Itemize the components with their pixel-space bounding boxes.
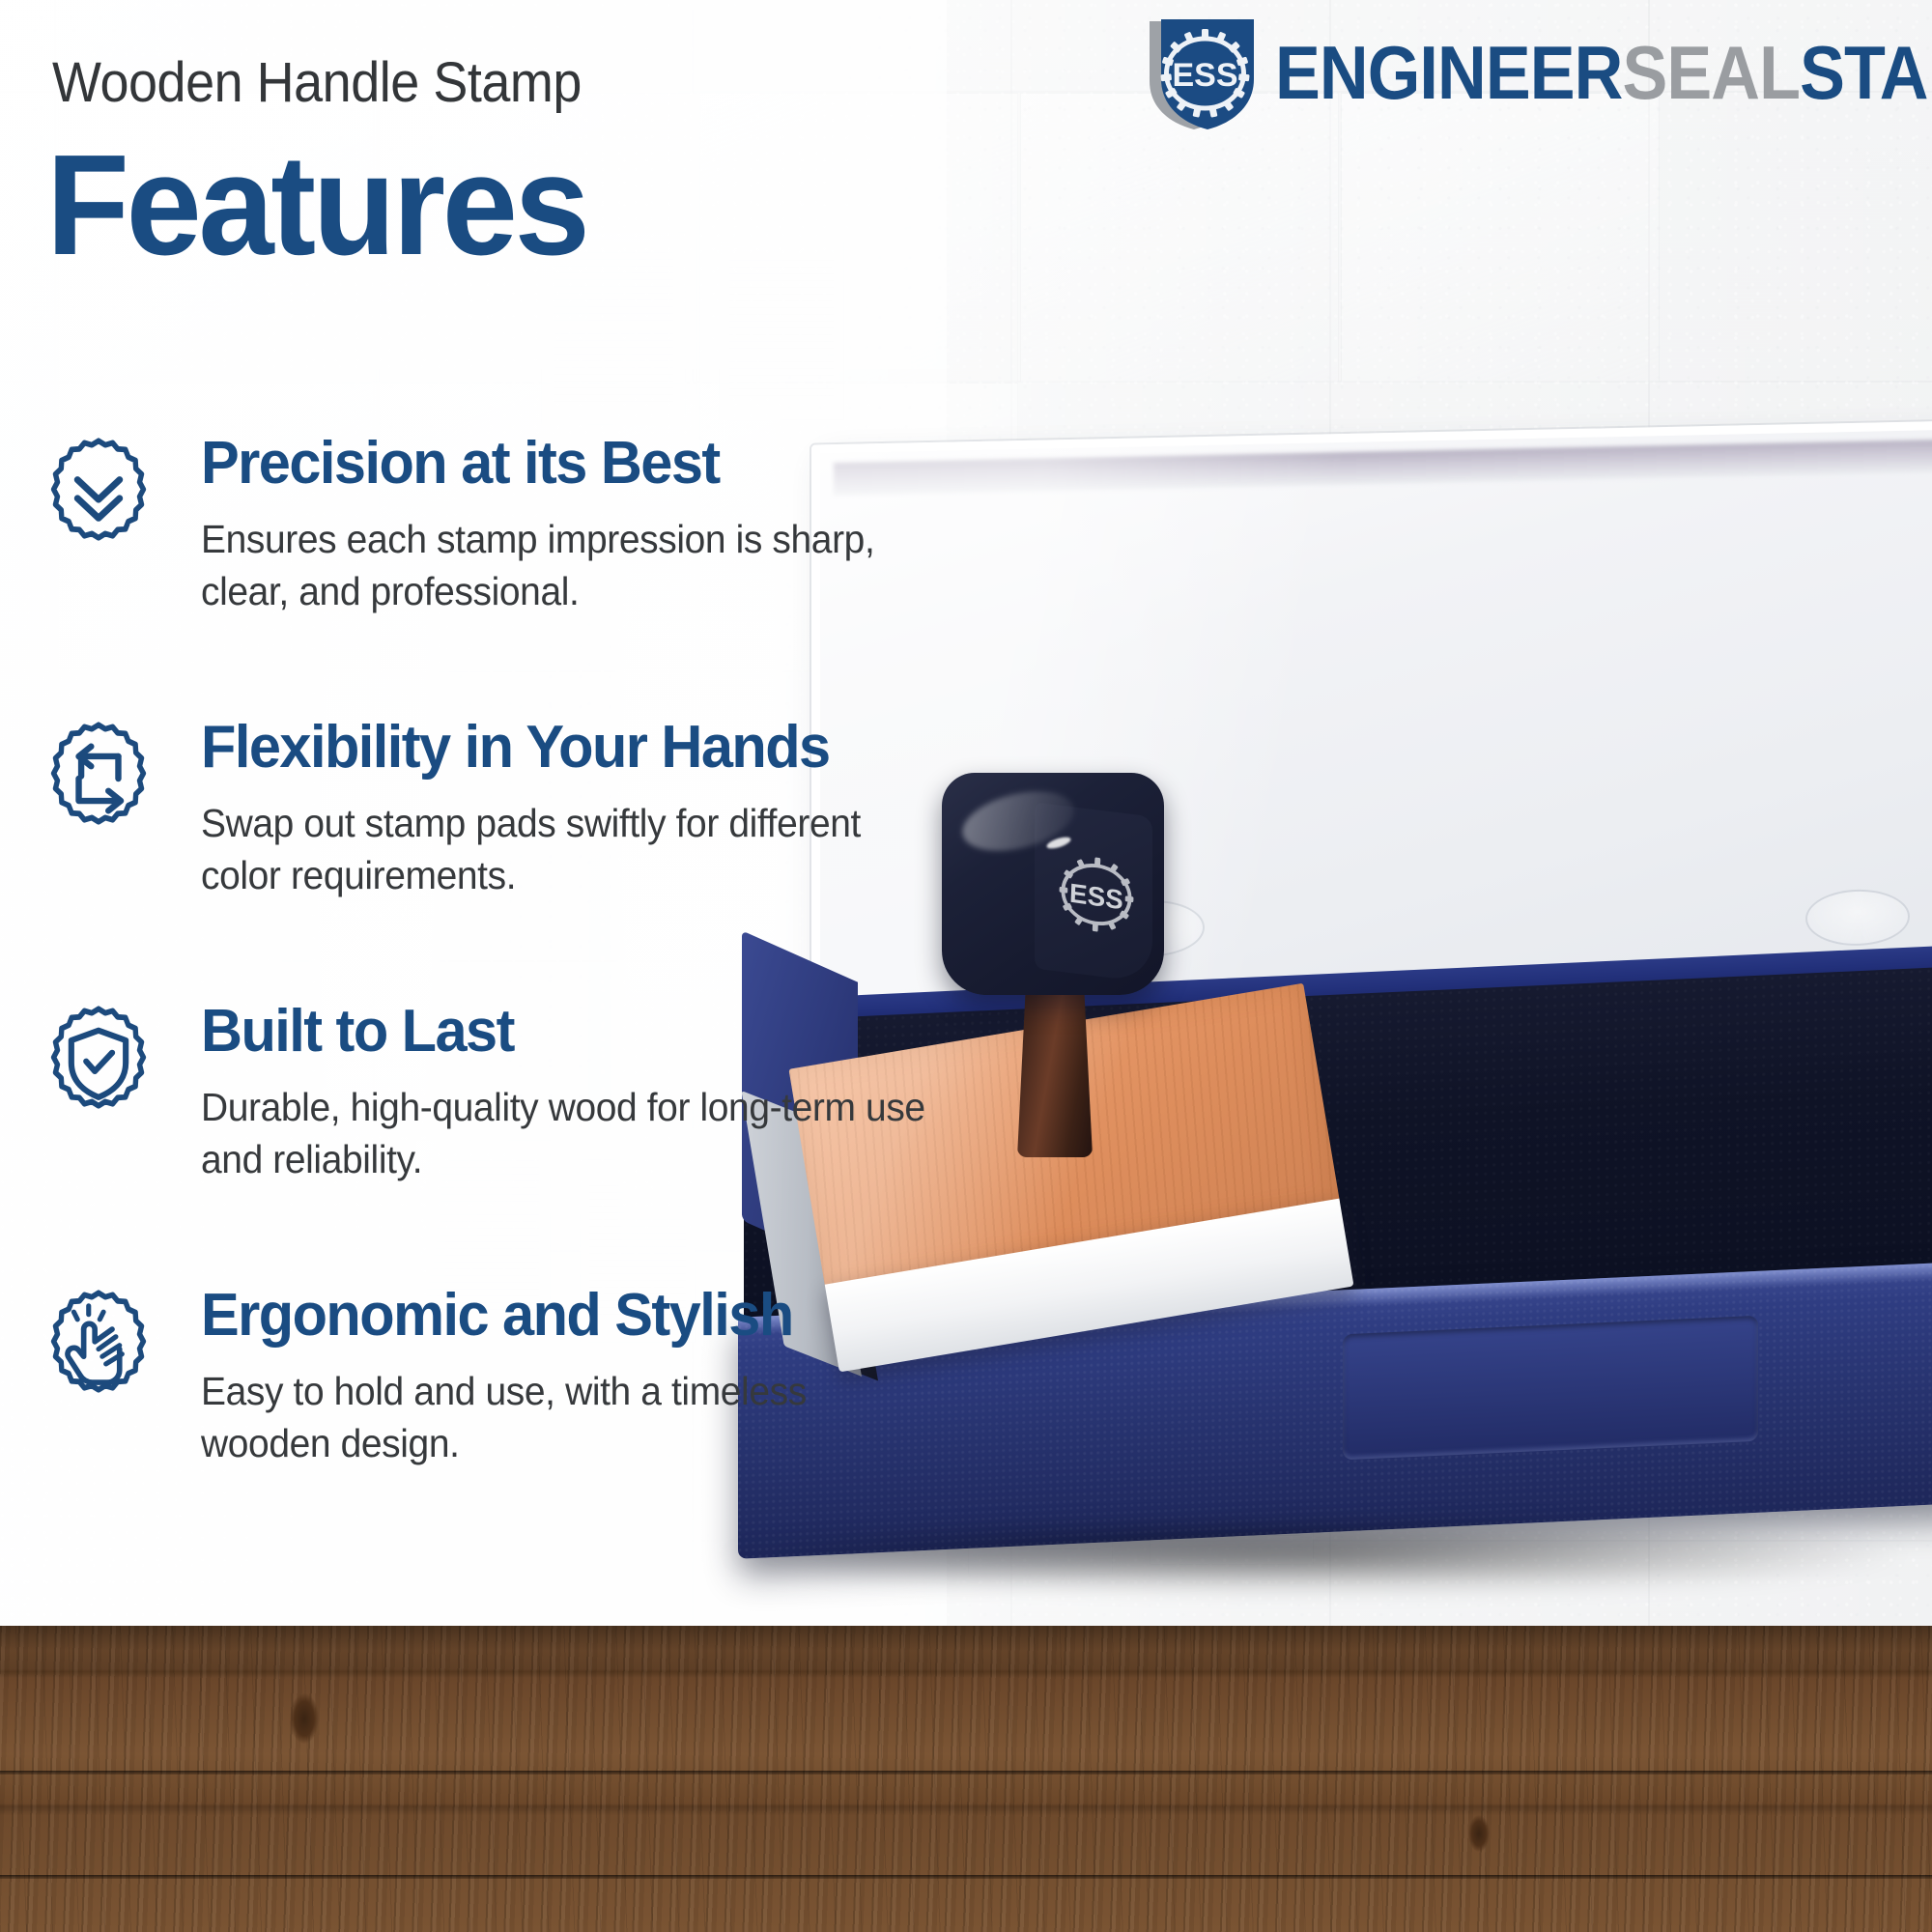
wordmark-stamps: STAMPS	[1800, 35, 1932, 110]
product-photo-wooden-handle-stamp: ESS	[908, 415, 1932, 1690]
feature-title: Flexibility in Your Hands	[201, 717, 973, 779]
feature-description: Durable, high-quality wood for long-term…	[201, 1082, 935, 1185]
wood-plank-seam	[0, 1771, 1932, 1775]
feature-title: Ergonomic and Stylish	[201, 1285, 973, 1347]
feature-item: Flexibility in Your Hands Swap out stamp…	[0, 717, 1005, 1007]
brand-wordmark: ENGINEER SEAL STAMPS .COM	[1275, 35, 1932, 110]
feature-title: Built to Last	[201, 1001, 973, 1063]
feature-item: Ergonomic and Stylish Easy to hold and u…	[0, 1285, 1005, 1575]
features-list: Precision at its Best Ensures each stamp…	[0, 439, 1005, 1575]
feature-description: Swap out stamp pads swiftly for differen…	[201, 798, 935, 901]
shield-logo-text: ESS	[1172, 57, 1237, 94]
ess-shield-icon: ESS	[1148, 15, 1262, 129]
page-title: Features	[46, 135, 586, 275]
wood-knot	[1468, 1815, 1490, 1852]
tap-hand-badge-icon	[37, 1285, 160, 1408]
wordmark-seal: SEAL	[1622, 35, 1800, 110]
handle-ess-gear-icon: ESS	[1048, 841, 1144, 947]
wood-plank-seam	[0, 1875, 1932, 1879]
feature-description: Ensures each stamp impression is sharp, …	[201, 514, 935, 617]
infographic-canvas: ESS Wooden Handle Stamp Features	[0, 0, 1932, 1932]
wood-knot	[290, 1693, 319, 1744]
case-thumb-notch	[1343, 1316, 1758, 1461]
feature-title: Precision at its Best	[201, 433, 973, 495]
feature-item: Built to Last Durable, high-quality wood…	[0, 1001, 1005, 1291]
feature-description: Easy to hold and use, with a timeless wo…	[201, 1366, 935, 1469]
swap-arrows-badge-icon	[37, 717, 160, 840]
wordmark-engineer: ENGINEER	[1275, 35, 1622, 110]
handle-logo-text: ESS	[1069, 878, 1124, 916]
brand-logo[interactable]: ESS ENGINEER SEAL STAMPS .COM	[1148, 14, 1911, 131]
page-kicker: Wooden Handle Stamp	[52, 50, 582, 115]
shield-check-badge-icon	[37, 1001, 160, 1124]
feature-item: Precision at its Best Ensures each stamp…	[0, 433, 1005, 723]
chevron-double-down-badge-icon	[37, 433, 160, 556]
